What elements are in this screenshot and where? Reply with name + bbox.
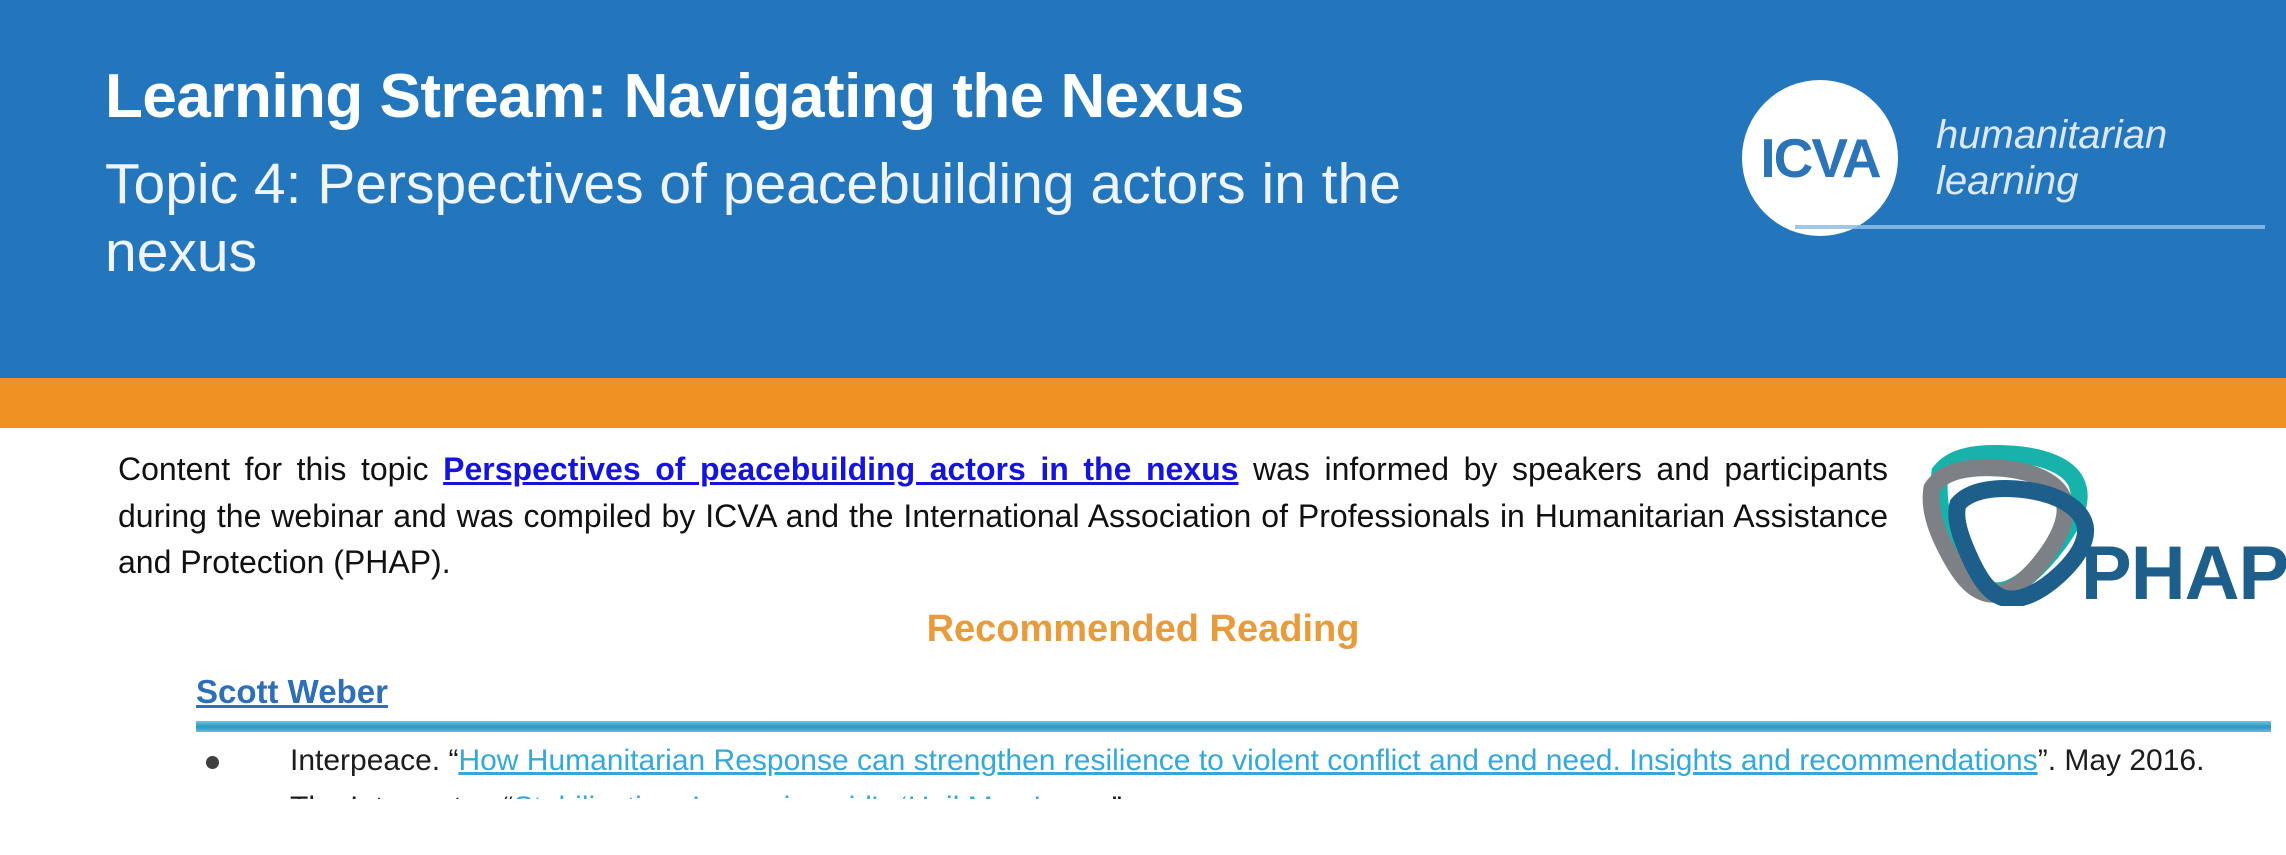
author-divider-rule [196,721,2271,732]
reading-link[interactable]: Stabilisation: Improving aid's ‘Hail Mar… [513,791,1111,799]
reading-date: . May 2016. [2048,744,2205,777]
quote-close: ” [1112,791,1122,799]
recommended-reading-heading: Recommended Reading [0,608,2286,651]
quote-open: “ [503,791,513,799]
icva-tagline: humanitarian learning [1936,112,2167,205]
quote-open: “ [448,744,458,777]
quote-close: ” [2038,744,2048,777]
phap-triangle-icon [1918,444,2098,606]
icva-logo: ICVA humanitarian learning [1742,80,2167,236]
intro-topic-link[interactable]: Perspectives of peacebuilding actors in … [443,451,1238,487]
icva-tagline-line2: learning [1936,158,2167,204]
header-title-block: Learning Stream: Navigating the Nexus To… [105,62,1705,286]
reading-link[interactable]: How Humanitarian Response can strengthen… [458,744,2037,777]
icva-circle-icon: ICVA [1742,80,1898,236]
list-item: Interpeace. “How Humanitarian Response c… [196,740,2271,781]
reading-list: Interpeace. “How Humanitarian Response c… [196,740,2271,805]
reading-source: The Interpreter. [290,791,503,799]
intro-text-before: Content for this topic [118,451,443,487]
bullet-icon [206,756,219,769]
icva-wordmark: ICVA [1760,131,1879,186]
page-subtitle: Topic 4: Perspectives of peacebuilding a… [105,151,1465,286]
header-banner: Learning Stream: Navigating the Nexus To… [0,0,2286,378]
page-title: Learning Stream: Navigating the Nexus [105,62,1705,131]
icva-underline-rule [1795,225,2265,229]
icva-tagline-line1: humanitarian [1936,112,2167,158]
author-name-scott-weber[interactable]: Scott Weber [196,673,388,711]
body-content: Content for this topic Perspectives of p… [0,428,2286,855]
reading-date: . [1122,791,1130,799]
phap-wordmark: PHAP [2081,536,2286,612]
phap-logo: PHAP [1918,438,2286,606]
list-item: The Interpreter. “Stabilisation: Improvi… [196,787,2271,799]
reading-source: Interpeace. [290,744,448,777]
slide-page: Learning Stream: Navigating the Nexus To… [0,0,2286,855]
intro-paragraph: Content for this topic Perspectives of p… [118,446,1888,586]
orange-divider-bar [0,378,2286,428]
